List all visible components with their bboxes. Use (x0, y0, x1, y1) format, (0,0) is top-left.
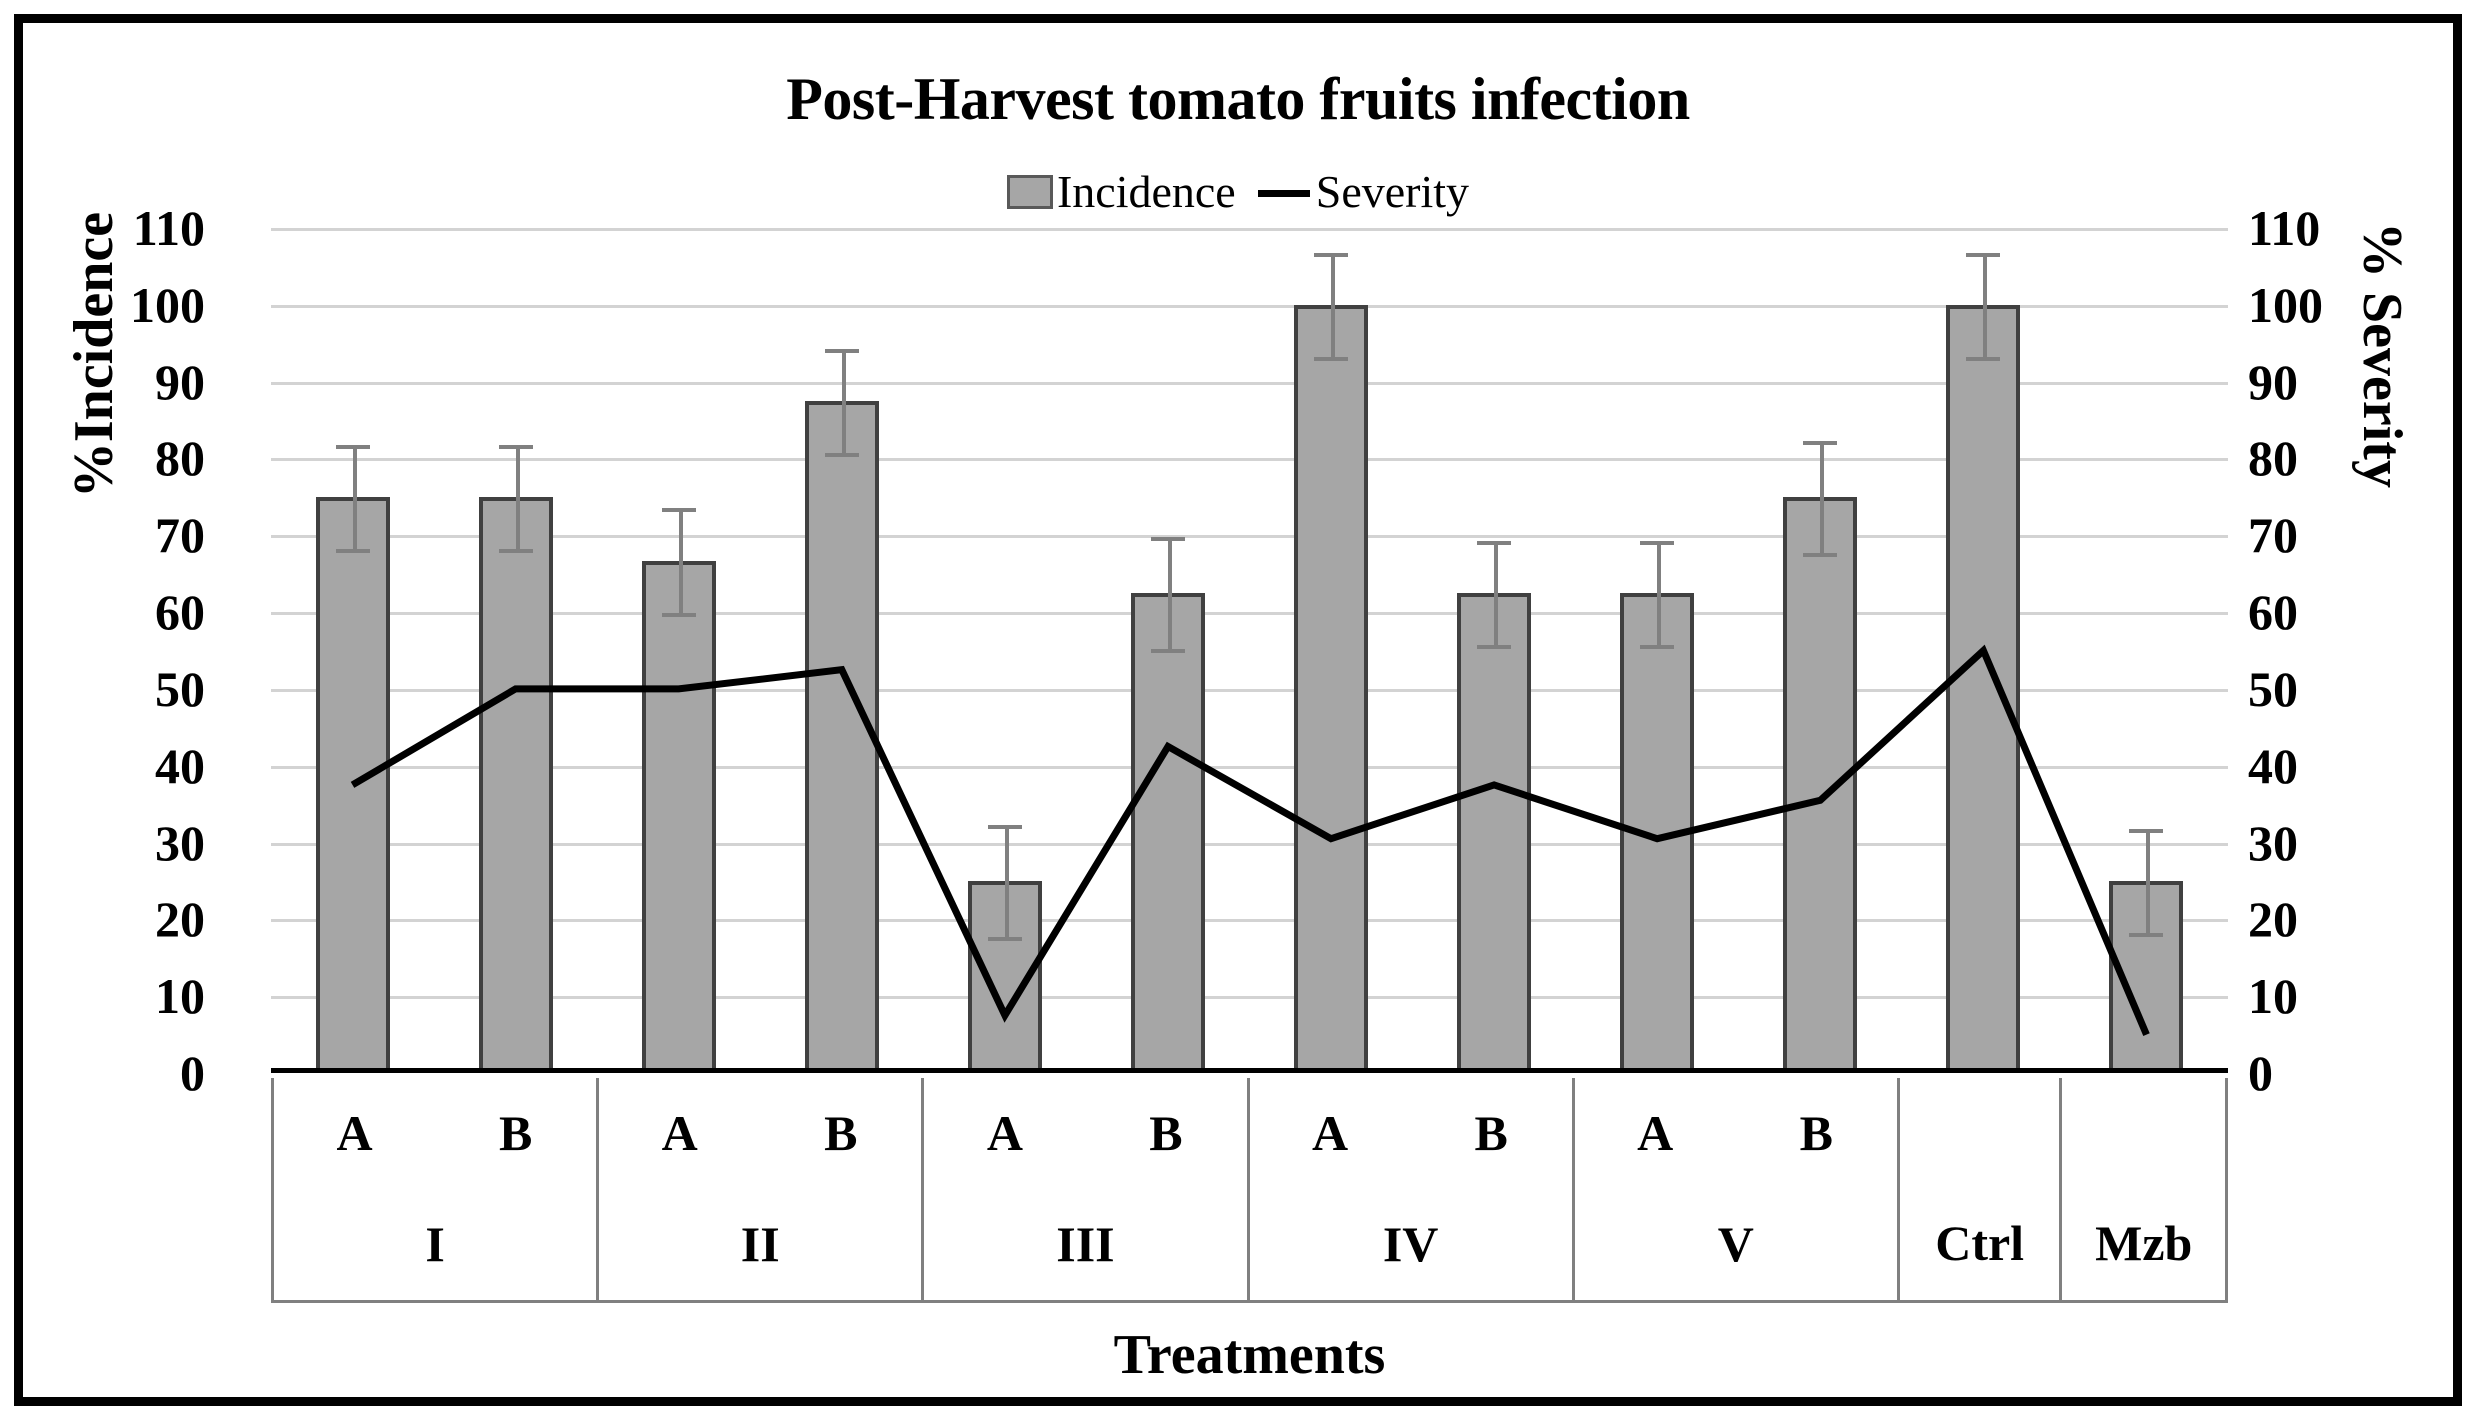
category-sub-label-V-B: B (1736, 1078, 1897, 1188)
y-tick-right-10: 10 (2248, 971, 2448, 1021)
category-sub-label-III-A: A (924, 1078, 1085, 1188)
y-tick-left-10: 10 (5, 971, 205, 1021)
y-tick-left-30: 30 (5, 818, 205, 868)
category-group-label-Ctrl: Ctrl (1900, 1078, 2060, 1300)
y-tick-right-30: 30 (2248, 818, 2448, 868)
y-tick-left-0: 0 (5, 1048, 205, 1098)
category-sub-label-V-A: A (1575, 1078, 1736, 1188)
y-tick-left-90: 90 (5, 357, 205, 407)
chart-canvas: Post-Harvest tomato fruits infection Inc… (23, 23, 2453, 1397)
y-tick-left-80: 80 (5, 433, 205, 483)
category-group-Mzb: Mzb (2062, 1078, 2225, 1300)
category-sub-label-II-A: A (599, 1078, 760, 1188)
category-group-label-II: II (599, 1188, 921, 1300)
category-group-II: ABII (599, 1078, 924, 1300)
category-group-label-III: III (924, 1188, 1246, 1300)
category-sub-label-I-A: A (274, 1078, 435, 1188)
category-group-IV: ABIV (1250, 1078, 1575, 1300)
y-tick-right-0: 0 (2248, 1048, 2448, 1098)
y-tick-left-70: 70 (5, 510, 205, 560)
y-tick-left-100: 100 (5, 280, 205, 330)
category-group-label-IV: IV (1250, 1188, 1572, 1300)
y-tick-left-50: 50 (5, 664, 205, 714)
category-group-Ctrl: Ctrl (1900, 1078, 2063, 1300)
y-tick-right-110: 110 (2248, 203, 2448, 253)
square-swatch-icon (1007, 175, 1053, 209)
y-tick-right-80: 80 (2248, 433, 2448, 483)
category-sub-label-II-B: B (760, 1078, 921, 1188)
category-group-label-Mzb: Mzb (2062, 1078, 2225, 1300)
category-sub-label-IV-B: B (1411, 1078, 1572, 1188)
category-group-V: ABV (1575, 1078, 1900, 1300)
severity-polyline (353, 651, 2147, 1035)
category-group-label-V: V (1575, 1188, 1897, 1300)
legend-entry-severity[interactable]: Severity (1258, 165, 1469, 218)
figure-frame: Post-Harvest tomato fruits infection Inc… (14, 14, 2462, 1406)
y-tick-right-50: 50 (2248, 664, 2448, 714)
y-tick-right-90: 90 (2248, 357, 2448, 407)
category-sub-label-IV-A: A (1250, 1078, 1411, 1188)
category-group-I: ABI (274, 1078, 599, 1300)
y-tick-left-110: 110 (5, 203, 205, 253)
y-tick-right-100: 100 (2248, 280, 2448, 330)
y-tick-right-70: 70 (2248, 510, 2448, 560)
plot-area (271, 228, 2228, 1073)
y-tick-right-20: 20 (2248, 894, 2448, 944)
category-group-label-I: I (274, 1188, 596, 1300)
axis-baseline (271, 1068, 2228, 1073)
y-tick-left-20: 20 (5, 894, 205, 944)
chart-legend: Incidence Severity (23, 165, 2453, 218)
y-tick-right-60: 60 (2248, 587, 2448, 637)
y-tick-left-40: 40 (5, 741, 205, 791)
x-axis-title: Treatments (271, 1323, 2228, 1387)
y-tick-right-40: 40 (2248, 741, 2448, 791)
severity-line-series (271, 228, 2228, 1073)
category-group-III: ABIII (924, 1078, 1249, 1300)
category-sub-label-III-B: B (1085, 1078, 1246, 1188)
legend-entry-incidence[interactable]: Incidence (1007, 165, 1236, 218)
category-sub-label-I-B: B (435, 1078, 596, 1188)
y-tick-left-60: 60 (5, 587, 205, 637)
legend-label-incidence: Incidence (1057, 165, 1236, 218)
legend-label-severity: Severity (1316, 165, 1469, 218)
category-axis: ABIABIIABIIIABIVABVCtrlMzb (271, 1078, 2228, 1303)
line-segment-icon (1258, 190, 1310, 197)
chart-title: Post-Harvest tomato fruits infection (23, 65, 2453, 134)
